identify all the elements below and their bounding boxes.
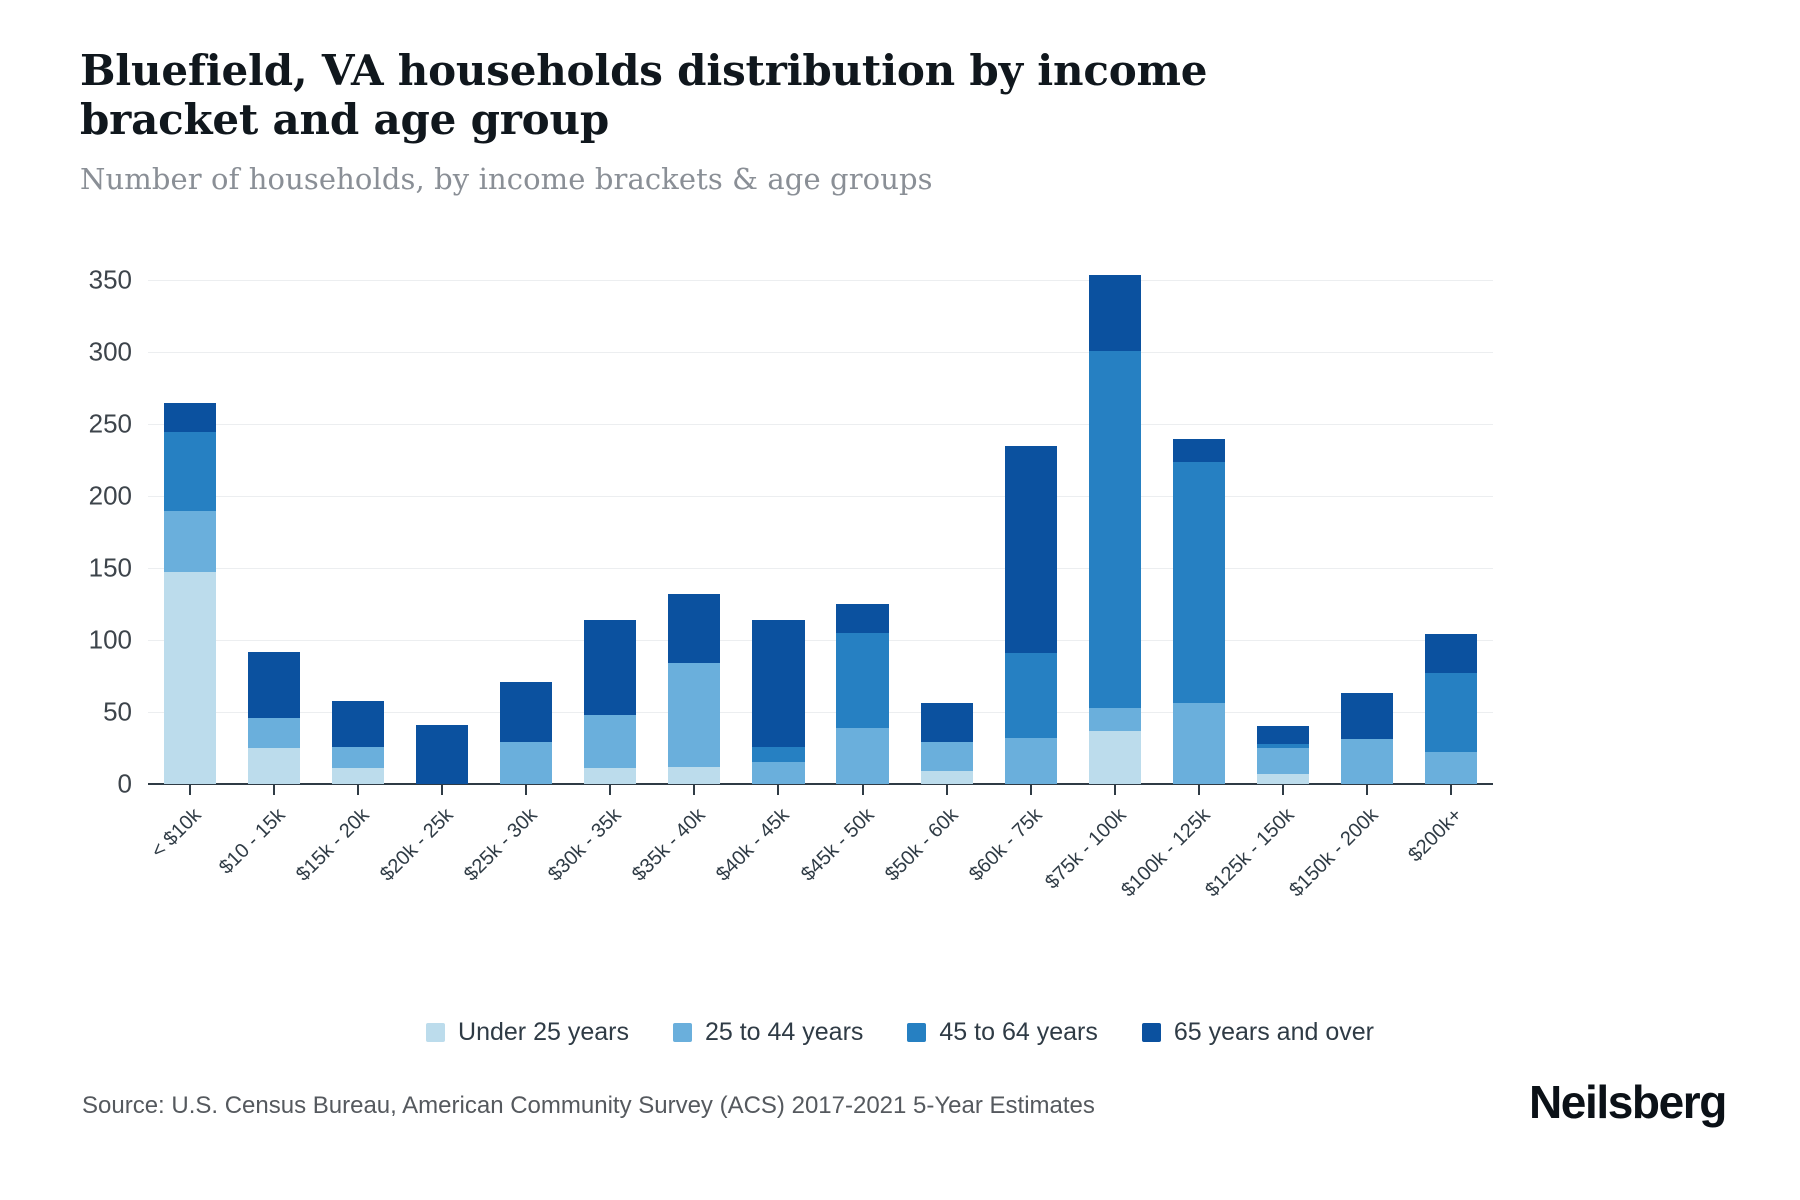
gridline	[148, 568, 1493, 569]
bar-group[interactable]	[752, 266, 804, 784]
bar-stack[interactable]	[1425, 634, 1477, 784]
bar-segment[interactable]	[1257, 748, 1309, 774]
x-axis-tick	[357, 785, 359, 795]
bar-segment[interactable]	[1089, 275, 1141, 351]
bar-segment[interactable]	[668, 767, 720, 784]
bar-segment[interactable]	[332, 701, 384, 747]
legend-swatch-icon	[673, 1023, 692, 1042]
bar-segment[interactable]	[1173, 703, 1225, 784]
bar-group[interactable]	[584, 266, 636, 784]
x-axis-tick	[946, 785, 948, 795]
bar-series-container	[148, 266, 1493, 784]
plot-area: 050100150200250300350 < $10k$10 - 15k$15…	[148, 266, 1493, 784]
bar-segment[interactable]	[1089, 351, 1141, 708]
legend-swatch-icon	[907, 1023, 926, 1042]
x-axis-label: $40k - 45k	[644, 804, 795, 955]
bar-segment[interactable]	[332, 747, 384, 769]
bar-segment[interactable]	[164, 511, 216, 573]
legend-label: 45 to 64 years	[939, 1018, 1097, 1047]
bar-segment[interactable]	[584, 768, 636, 784]
bar-segment[interactable]	[921, 742, 973, 771]
bar-stack[interactable]	[752, 620, 804, 784]
y-axis-tick-label: 350	[62, 265, 132, 296]
bar-segment[interactable]	[164, 572, 216, 784]
gridline	[148, 352, 1493, 353]
bar-segment[interactable]	[1425, 752, 1477, 784]
y-axis-tick-label: 150	[62, 553, 132, 584]
x-axis-tick	[1114, 785, 1116, 795]
chart-legend: Under 25 years25 to 44 years45 to 64 yea…	[0, 1018, 1800, 1047]
x-axis-label: $200k+	[1317, 804, 1468, 955]
bar-group[interactable]	[1257, 266, 1309, 784]
legend-label: 65 years and over	[1174, 1018, 1374, 1047]
bar-segment[interactable]	[752, 762, 804, 784]
bar-segment[interactable]	[836, 604, 888, 633]
bar-segment[interactable]	[921, 771, 973, 784]
bar-group[interactable]	[1089, 266, 1141, 784]
bar-stack[interactable]	[1005, 446, 1057, 784]
bar-stack[interactable]	[836, 604, 888, 784]
x-axis-label: $35k - 40k	[560, 804, 711, 955]
y-axis-tick-label: 100	[62, 625, 132, 656]
bar-stack[interactable]	[1341, 693, 1393, 784]
bar-group[interactable]	[1425, 266, 1477, 784]
bar-segment[interactable]	[248, 748, 300, 784]
gridline	[148, 712, 1493, 713]
legend-item[interactable]: 65 years and over	[1142, 1018, 1374, 1047]
x-axis-label: $25k - 30k	[392, 804, 543, 955]
bar-segment[interactable]	[248, 718, 300, 748]
source-note: Source: U.S. Census Bureau, American Com…	[82, 1092, 1095, 1120]
x-axis-label: $125k - 150k	[1148, 804, 1299, 955]
bar-stack[interactable]	[921, 703, 973, 784]
x-axis-label: $20k - 25k	[308, 804, 459, 955]
bar-segment[interactable]	[584, 715, 636, 768]
page-title: Bluefield, VA households distribution by…	[80, 46, 1370, 144]
bar-group[interactable]	[921, 266, 973, 784]
x-axis-tick	[273, 785, 275, 795]
bar-segment[interactable]	[1257, 726, 1309, 743]
bar-stack[interactable]	[500, 682, 552, 784]
bar-stack[interactable]	[584, 620, 636, 784]
x-axis-tick	[441, 785, 443, 795]
bar-stack[interactable]	[416, 725, 468, 784]
bar-stack[interactable]	[332, 701, 384, 784]
bar-segment[interactable]	[1257, 774, 1309, 784]
legend-item[interactable]: 45 to 64 years	[907, 1018, 1097, 1047]
bar-segment[interactable]	[1341, 739, 1393, 784]
gridline	[148, 280, 1493, 281]
legend-swatch-icon	[426, 1023, 445, 1042]
gridline	[148, 424, 1493, 425]
bar-segment[interactable]	[1173, 439, 1225, 462]
gridline	[148, 784, 1493, 785]
bar-segment[interactable]	[416, 725, 468, 784]
y-axis-tick-label: 0	[62, 769, 132, 800]
bar-group[interactable]	[836, 266, 888, 784]
x-axis-label: $150k - 200k	[1233, 804, 1384, 955]
bar-segment[interactable]	[668, 594, 720, 663]
bar-group[interactable]	[500, 266, 552, 784]
x-axis-tick	[1366, 785, 1368, 795]
x-axis-label: $50k - 60k	[812, 804, 963, 955]
x-axis-tick	[525, 785, 527, 795]
bar-stack[interactable]	[164, 403, 216, 784]
y-axis-tick-label: 200	[62, 481, 132, 512]
y-axis-tick-label: 50	[62, 697, 132, 728]
chart-header: Bluefield, VA households distribution by…	[80, 46, 1580, 196]
bar-stack[interactable]	[1173, 439, 1225, 784]
x-axis-label: $75k - 100k	[980, 804, 1131, 955]
x-axis-label: < $10k	[56, 804, 207, 955]
bar-segment[interactable]	[668, 663, 720, 767]
y-axis-tick-label: 300	[62, 337, 132, 368]
x-axis-label: $30k - 35k	[476, 804, 627, 955]
x-axis-tick	[1450, 785, 1452, 795]
bar-segment[interactable]	[921, 703, 973, 742]
bar-segment[interactable]	[1089, 731, 1141, 784]
x-axis-tick	[862, 785, 864, 795]
bar-group[interactable]	[164, 266, 216, 784]
legend-swatch-icon	[1142, 1023, 1161, 1042]
bar-segment[interactable]	[332, 768, 384, 784]
bar-segment[interactable]	[1089, 708, 1141, 731]
x-axis-tick	[1198, 785, 1200, 795]
bar-segment[interactable]	[752, 747, 804, 763]
bar-segment[interactable]	[1005, 738, 1057, 784]
bar-segment[interactable]	[248, 652, 300, 718]
bar-group[interactable]	[248, 266, 300, 784]
bar-stack[interactable]	[248, 652, 300, 784]
legend-item[interactable]: 25 to 44 years	[673, 1018, 863, 1047]
chart-page: Bluefield, VA households distribution by…	[0, 0, 1800, 1200]
x-axis-tick	[189, 785, 191, 795]
x-axis-tick	[1030, 785, 1032, 795]
bar-segment[interactable]	[752, 620, 804, 747]
x-axis-tick	[693, 785, 695, 795]
chart-subtitle: Number of households, by income brackets…	[80, 162, 1580, 196]
x-axis-line	[148, 783, 1493, 785]
bar-segment[interactable]	[1341, 693, 1393, 739]
gridline	[148, 496, 1493, 497]
x-axis-label: $10 - 15k	[140, 804, 291, 955]
gridline	[148, 640, 1493, 641]
x-axis-label: $45k - 50k	[728, 804, 879, 955]
legend-item[interactable]: Under 25 years	[426, 1018, 629, 1047]
bar-segment[interactable]	[836, 633, 888, 728]
x-axis-label: $100k - 125k	[1064, 804, 1215, 955]
bar-group[interactable]	[668, 266, 720, 784]
bar-stack[interactable]	[668, 594, 720, 784]
bar-segment[interactable]	[584, 620, 636, 715]
x-axis-tick	[777, 785, 779, 795]
bar-segment[interactable]	[1173, 462, 1225, 704]
bar-segment[interactable]	[500, 682, 552, 742]
bar-segment[interactable]	[1425, 673, 1477, 752]
bar-segment[interactable]	[1257, 744, 1309, 748]
legend-label: 25 to 44 years	[705, 1018, 863, 1047]
y-axis-tick-label: 250	[62, 409, 132, 440]
bar-segment[interactable]	[164, 403, 216, 432]
bar-group[interactable]	[1173, 266, 1225, 784]
bar-segment[interactable]	[1005, 446, 1057, 653]
x-axis-label: $15k - 20k	[224, 804, 375, 955]
bar-stack[interactable]	[1089, 275, 1141, 784]
bar-segment[interactable]	[500, 742, 552, 784]
bar-segment[interactable]	[1425, 634, 1477, 673]
x-axis-label: $60k - 75k	[896, 804, 1047, 955]
bar-group[interactable]	[416, 266, 468, 784]
bar-segment[interactable]	[164, 432, 216, 511]
legend-label: Under 25 years	[458, 1018, 629, 1047]
bar-segment[interactable]	[1005, 653, 1057, 738]
bar-group[interactable]	[332, 266, 384, 784]
x-axis-tick	[1282, 785, 1284, 795]
bar-group[interactable]	[1341, 266, 1393, 784]
brand-logo: Neilsberg	[1529, 1075, 1726, 1129]
bar-stack[interactable]	[1257, 726, 1309, 784]
x-axis-tick	[609, 785, 611, 795]
bar-group[interactable]	[1005, 266, 1057, 784]
bar-segment[interactable]	[836, 728, 888, 784]
